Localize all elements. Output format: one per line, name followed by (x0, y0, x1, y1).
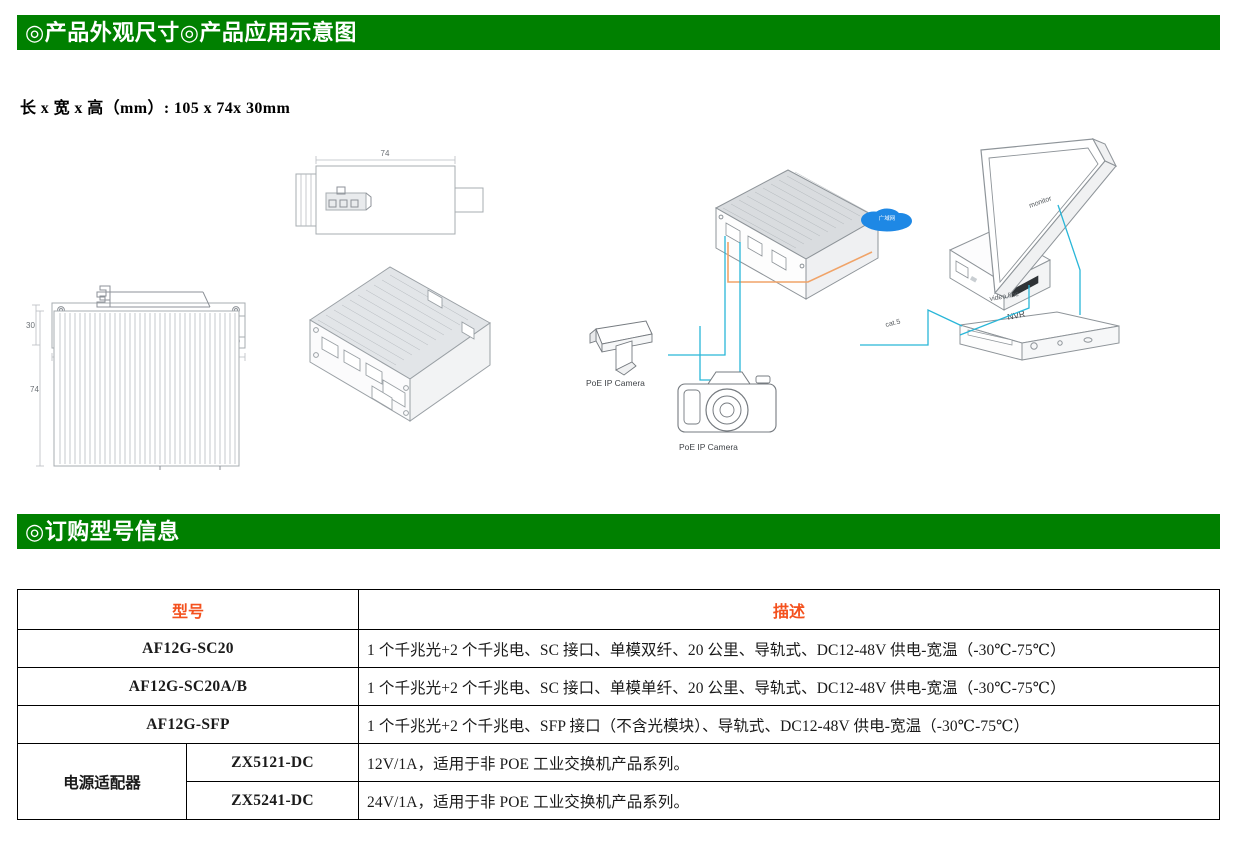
table-row-adapter: ZX5241-DC 24V/1A，适用于非 POE 工业交换机产品系列。 (18, 782, 1220, 820)
cell-description: 1 个千兆光+2 个千兆电、SC 接口、单模单纤、20 公里、导轨式、DC12-… (359, 668, 1220, 706)
dslr-camera-illustration (678, 372, 776, 432)
top-view-drawing: 74 (296, 149, 483, 234)
cell-description: 24V/1A，适用于非 POE 工业交换机产品系列。 (359, 782, 1220, 820)
ordering-information-table: 型号 描述 AF12G-SC20 1 个千兆光+2 个千兆电、SC 接口、单模双… (17, 589, 1220, 820)
cell-model: AF12G-SC20 (18, 630, 359, 668)
cell-description: 12V/1A，适用于非 POE 工业交换机产品系列。 (359, 744, 1220, 782)
cell-model: AF12G-SC20A/B (18, 668, 359, 706)
camera-label-1: PoE IP Camera (586, 378, 645, 388)
camera-label-2: PoE IP Camera (679, 442, 738, 452)
cell-description: 1 个千兆光+2 个千兆电、SC 接口、单模双纤、20 公里、导轨式、DC12-… (359, 630, 1220, 668)
cell-model: ZX5241-DC (187, 782, 359, 820)
application-topology-diagram: 广域网 Fiber media converter mon (560, 130, 1257, 470)
bullet-camera-illustration (590, 321, 652, 375)
front-height-dim: 30 (26, 321, 35, 330)
ordering-section-banner: ◎订购型号信息 (17, 514, 1220, 549)
product-spec-page: ◎产品外观尺寸◎产品应用示意图 长 x 宽 x 高（mm）: 105 x 74x… (0, 0, 1257, 852)
table-row: AF12G-SC20 1 个千兆光+2 个千兆电、SC 接口、单模双纤、20 公… (18, 630, 1220, 668)
side-view-drawing: 74 (30, 286, 239, 470)
nvr-illustration (960, 312, 1119, 360)
appearance-section-banner: ◎产品外观尺寸◎产品应用示意图 (17, 15, 1220, 50)
isometric-view-drawing (310, 267, 490, 421)
header-description: 描述 (359, 590, 1220, 630)
table-header-row: 型号 描述 (18, 590, 1220, 630)
side-height-dim: 74 (30, 385, 39, 394)
cell-model: ZX5121-DC (187, 744, 359, 782)
cell-model: AF12G-SFP (18, 706, 359, 744)
table-row-adapter: 电源适配器 ZX5121-DC 12V/1A，适用于非 POE 工业交换机产品系… (18, 744, 1220, 782)
header-model: 型号 (18, 590, 359, 630)
cell-adapter-group-label: 电源适配器 (18, 744, 187, 820)
wan-cloud-label: 广域网 (879, 214, 896, 222)
top-width-dim: 74 (381, 149, 390, 158)
wan-cloud-icon: 广域网 (861, 209, 912, 232)
cell-description: 1 个千兆光+2 个千兆电、SFP 接口（不含光模块）、导轨式、DC12-48V… (359, 706, 1220, 744)
cat5-label-upper: cat.5 (885, 318, 902, 328)
technical-drawings: 30 105 74 (0, 130, 560, 470)
table-row: AF12G-SC20A/B 1 个千兆光+2 个千兆电、SC 接口、单模单纤、2… (18, 668, 1220, 706)
table-row: AF12G-SFP 1 个千兆光+2 个千兆电、SFP 接口（不含光模块）、导轨… (18, 706, 1220, 744)
dimension-caption: 长 x 宽 x 高（mm）: 105 x 74x 30mm (20, 94, 290, 118)
